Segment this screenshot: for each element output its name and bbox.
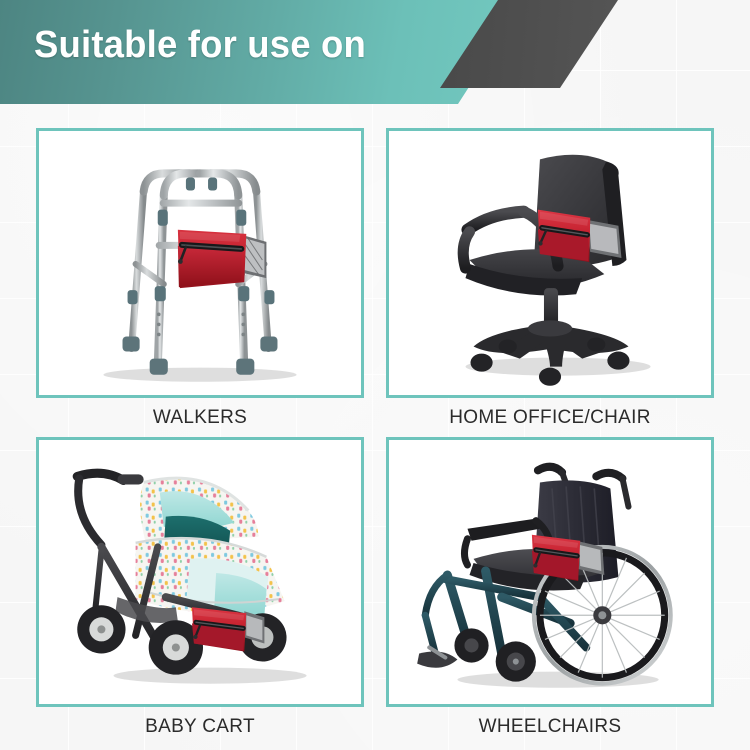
baby-stroller-illustration <box>39 440 361 704</box>
card-cell-walkers: WALKERS <box>36 128 364 431</box>
card-cell-home-office-chair: HOME OFFICE/CHAIR <box>386 128 714 431</box>
card-label-walkers: WALKERS <box>36 398 364 431</box>
card-cell-baby-cart: BABY CART <box>36 437 364 740</box>
red-pouch-bag <box>178 230 267 288</box>
office-chair-illustration <box>389 131 711 395</box>
card-label-baby-cart: BABY CART <box>36 707 364 740</box>
card-label-home-office-chair: HOME OFFICE/CHAIR <box>386 398 714 431</box>
page-title: Suitable for use on <box>34 24 366 67</box>
header-banner: Suitable for use on <box>0 0 750 110</box>
product-card-grid: WALKERS <box>0 112 750 750</box>
card-label-wheelchairs: WHEELCHAIRS <box>386 707 714 740</box>
product-card-wheelchairs[interactable] <box>386 437 714 707</box>
product-card-baby-cart[interactable] <box>36 437 364 707</box>
card-cell-wheelchairs: WHEELCHAIRS <box>386 437 714 740</box>
product-card-home-office-chair[interactable] <box>386 128 714 398</box>
product-card-walkers[interactable] <box>36 128 364 398</box>
walker-illustration <box>39 131 361 395</box>
wheelchair-illustration <box>389 440 711 704</box>
